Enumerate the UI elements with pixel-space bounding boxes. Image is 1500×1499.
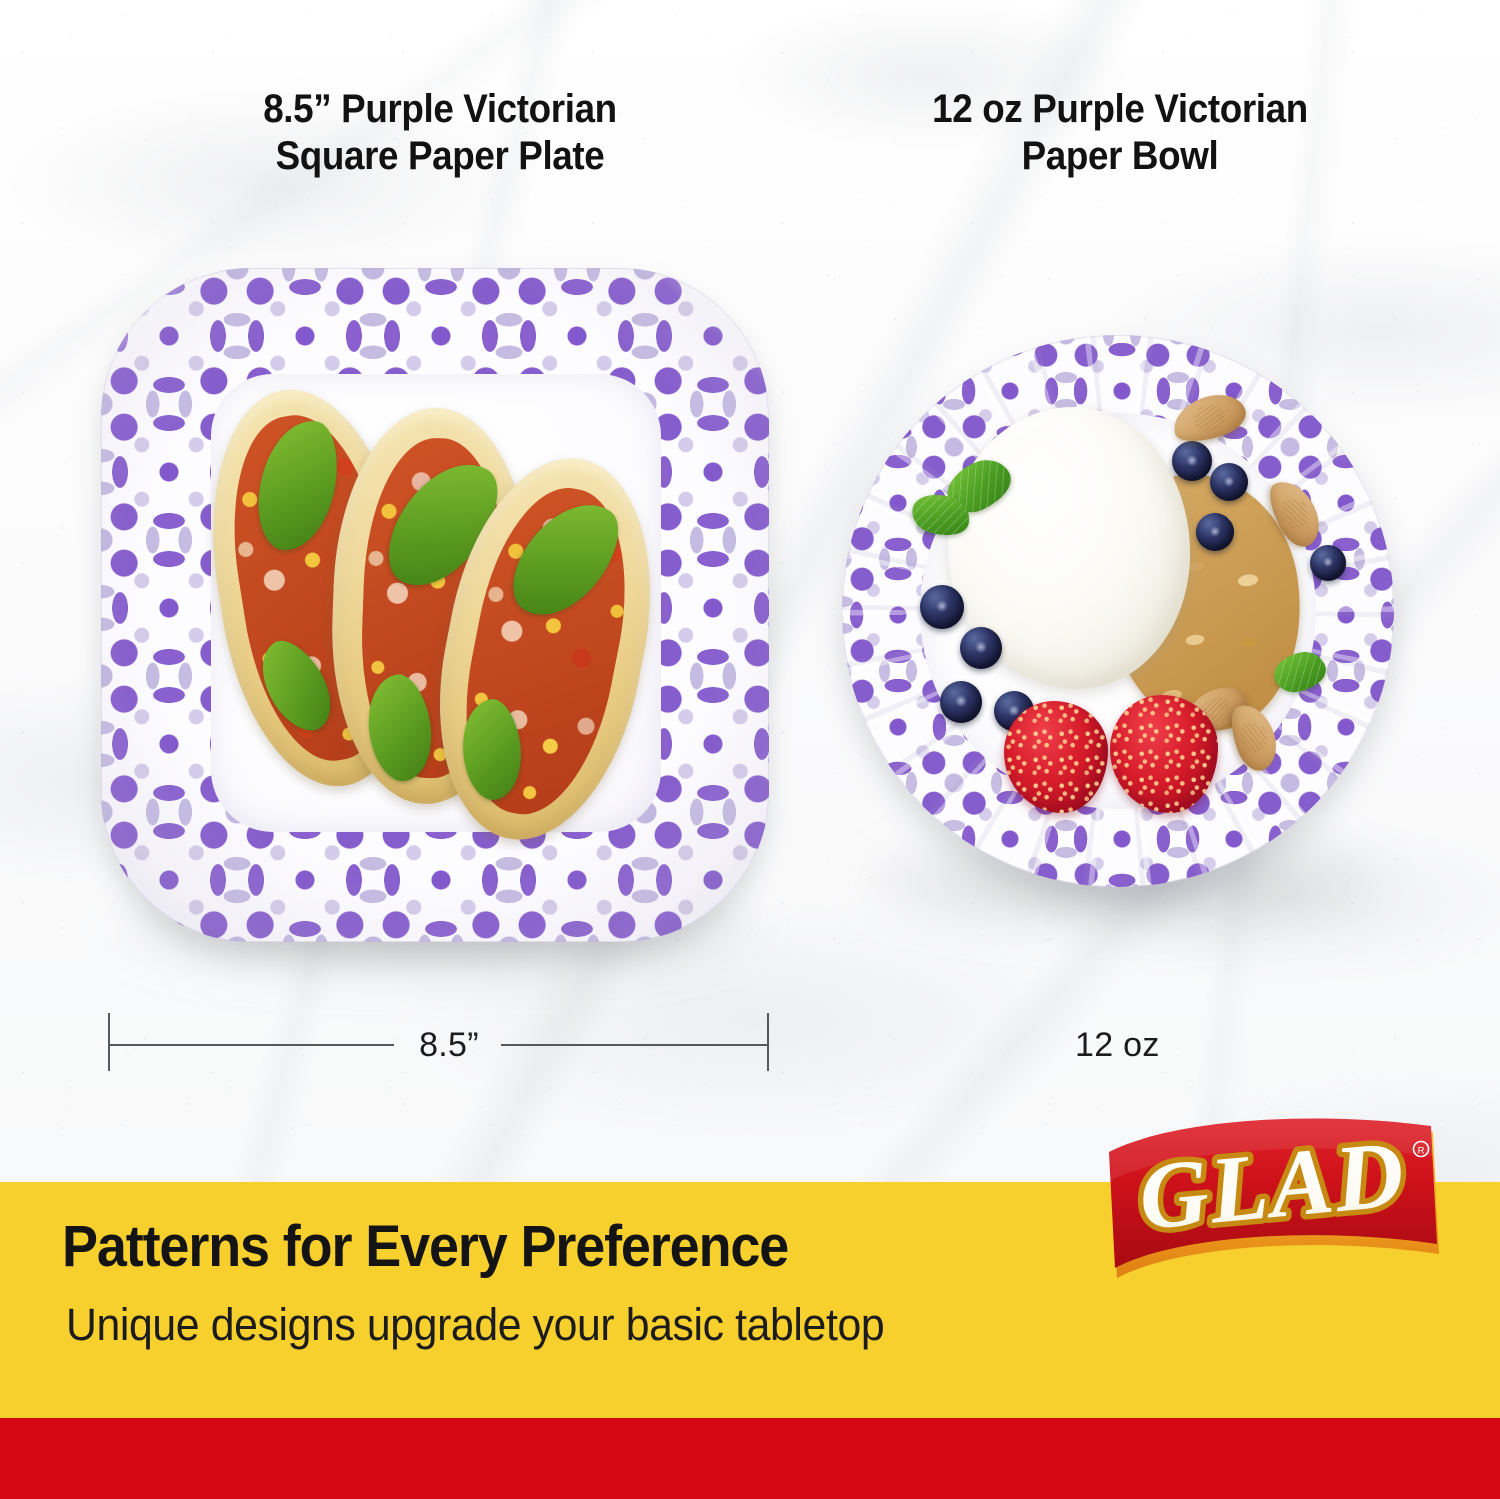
blueberry — [1310, 545, 1346, 581]
product-title-line-2: Square Paper Plate — [155, 133, 725, 180]
blueberry — [1210, 463, 1248, 501]
blueberry — [940, 681, 982, 723]
blueberry — [1196, 513, 1234, 551]
plate-surface — [101, 268, 769, 942]
banner-red-bar — [0, 1418, 1500, 1499]
paper-bowl — [842, 335, 1394, 887]
banner-subheadline: Unique designs upgrade your basic tablet… — [66, 1302, 884, 1347]
glad-logo: GLAD GLAD R — [1103, 1118, 1455, 1300]
blueberry — [1172, 441, 1212, 481]
square-paper-plate — [101, 268, 769, 942]
product-infographic: 8.5” Purple Victorian Square Paper Plate — [0, 0, 1500, 1499]
bowl-surface — [842, 335, 1394, 887]
measurement-label-paper-bowl: 12 oz — [1075, 1026, 1160, 1065]
measurement-label-square-plate: 8.5” — [400, 1026, 498, 1065]
product-title-square-plate: 8.5” Purple Victorian Square Paper Plate — [155, 86, 725, 180]
product-title-line-2: Paper Bowl — [826, 133, 1415, 180]
product-title-line-1: 8.5” Purple Victorian — [155, 86, 725, 133]
product-title-line-1: 12 oz Purple Victorian — [826, 86, 1415, 133]
product-title-paper-bowl: 12 oz Purple Victorian Paper Bowl — [826, 86, 1415, 180]
blueberry — [960, 627, 1002, 669]
blueberry — [920, 585, 964, 629]
banner-headline: Patterns for Every Preference — [62, 1218, 788, 1276]
svg-text:R: R — [1418, 1146, 1425, 1157]
